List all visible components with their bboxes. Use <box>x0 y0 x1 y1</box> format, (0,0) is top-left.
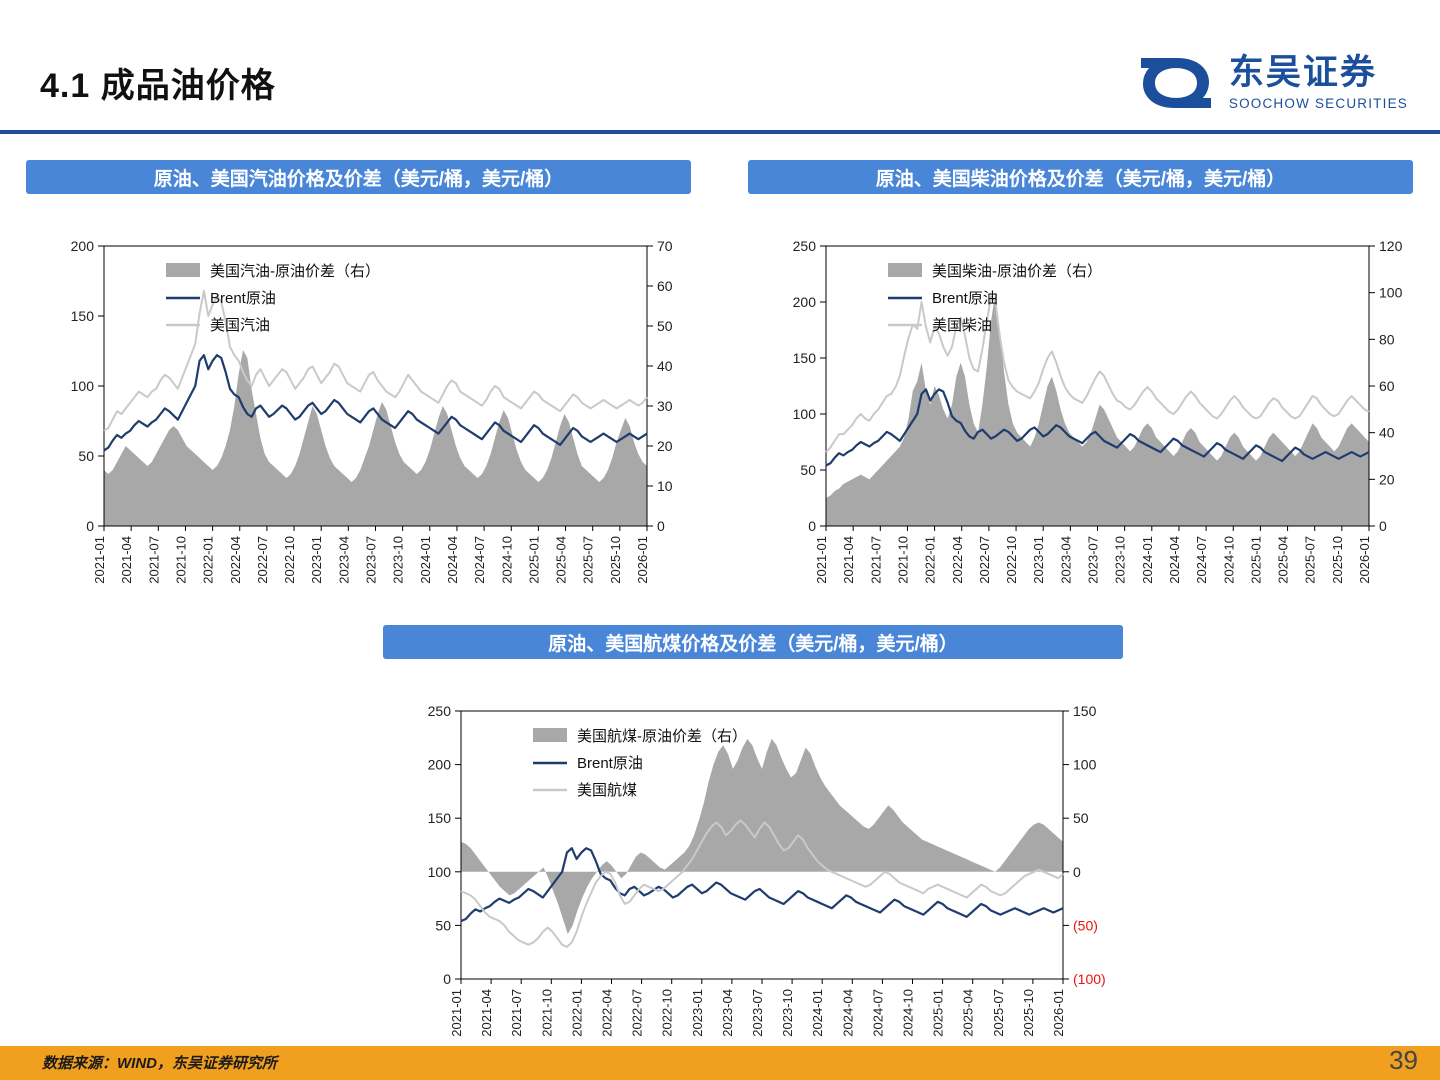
x-tick-label: 2023-10 <box>1113 536 1128 584</box>
x-tick-label: 2022-10 <box>1004 536 1019 584</box>
y-tick-label: 100 <box>793 406 817 422</box>
x-tick-label: 2026-01 <box>1357 536 1372 584</box>
x-tick-label: 2023-07 <box>1086 536 1101 584</box>
y-tick-label: 150 <box>71 308 95 324</box>
chart-title-jetfuel: 原油、美国航煤价格及价差（美元/桶，美元/桶） <box>383 625 1123 659</box>
y-tick-label: 200 <box>71 238 95 254</box>
legend-swatch-spread <box>888 263 922 277</box>
x-tick-label: 2023-04 <box>336 536 351 584</box>
chart-card-gasoline: 原油、美国汽油价格及价差（美元/桶，美元/桶） 0501001502000102… <box>26 160 691 594</box>
y-tick-label: 0 <box>443 971 451 987</box>
y-tick-label: 100 <box>428 864 452 880</box>
y-tick-label: 50 <box>435 917 451 933</box>
x-tick-label: 2024-04 <box>445 536 460 584</box>
y-tick-label: 50 <box>800 462 816 478</box>
y-tick-label: 250 <box>428 703 452 719</box>
x-tick-label: 2021-04 <box>841 536 856 584</box>
y2-tick-label: (50) <box>1073 917 1098 933</box>
x-tick-label: 2024-07 <box>472 536 487 584</box>
x-tick-label: 2021-10 <box>539 989 554 1037</box>
x-tick-label: 2023-01 <box>309 536 324 584</box>
x-tick-label: 2022-10 <box>660 989 675 1037</box>
x-tick-label: 2021-07 <box>868 536 883 584</box>
y-tick-label: 150 <box>793 350 817 366</box>
y2-tick-label: 0 <box>657 518 665 534</box>
x-tick-label: 2022-01 <box>569 989 584 1037</box>
page-number: 39 <box>1389 1045 1418 1076</box>
x-tick-label: 2025-07 <box>1303 536 1318 584</box>
y-tick-label: 100 <box>71 378 95 394</box>
legend-swatch-spread <box>533 728 567 742</box>
y2-tick-label: 40 <box>1379 425 1395 441</box>
y-tick-label: 50 <box>78 448 94 464</box>
x-tick-label: 2022-07 <box>630 989 645 1037</box>
legend-label-line-0: Brent原油 <box>577 755 643 772</box>
x-tick-label: 2024-01 <box>810 989 825 1037</box>
x-tick-label: 2024-01 <box>418 536 433 584</box>
chart-plot-gasoline: 0501001502000102030405060702021-012021-0… <box>26 194 691 594</box>
legend-label-line-0: Brent原油 <box>932 290 998 307</box>
chart-plot-diesel: 0501001502002500204060801001202021-01202… <box>748 194 1413 594</box>
logo-text-en: SOOCHOW SECURITIES <box>1229 96 1408 111</box>
y-tick-label: 200 <box>428 757 452 773</box>
x-tick-label: 2024-10 <box>499 536 514 584</box>
legend-label-spread: 美国航煤-原油价差（右） <box>577 728 747 745</box>
page-title: 4.1 成品油价格 <box>40 58 276 107</box>
y2-tick-label: 0 <box>1073 864 1081 880</box>
x-tick-label: 2023-10 <box>780 989 795 1037</box>
y-tick-label: 250 <box>793 238 817 254</box>
y2-tick-label: 0 <box>1379 518 1387 534</box>
x-tick-label: 2025-10 <box>1021 989 1036 1037</box>
chart-card-jetfuel: 原油、美国航煤价格及价差（美元/桶，美元/桶） 050100150200250(… <box>383 625 1123 1059</box>
x-tick-label: 2022-04 <box>600 989 615 1037</box>
chart-plot-jetfuel: 050100150200250(100)(50)0501001502021-01… <box>383 659 1123 1059</box>
y2-tick-label: 20 <box>1379 471 1395 487</box>
x-tick-label: 2022-07 <box>977 536 992 584</box>
company-logo: 东吴证券 SOOCHOW SECURITIES <box>1137 52 1408 114</box>
chart-title-gasoline: 原油、美国汽油价格及价差（美元/桶，美元/桶） <box>26 160 691 194</box>
x-tick-label: 2021-07 <box>509 989 524 1037</box>
x-tick-label: 2022-04 <box>950 536 965 584</box>
x-tick-label: 2021-10 <box>895 536 910 584</box>
x-tick-label: 2022-01 <box>923 536 938 584</box>
x-tick-label: 2024-04 <box>840 989 855 1037</box>
x-tick-label: 2022-10 <box>282 536 297 584</box>
x-tick-label: 2023-04 <box>1058 536 1073 584</box>
legend-label-line-1: 美国柴油 <box>932 317 992 334</box>
legend-label-line-1: 美国航煤 <box>577 782 637 799</box>
x-tick-label: 2023-07 <box>750 989 765 1037</box>
x-tick-label: 2021-01 <box>449 989 464 1037</box>
x-tick-label: 2021-04 <box>119 536 134 584</box>
x-tick-label: 2025-04 <box>961 989 976 1037</box>
y2-tick-label: 120 <box>1379 238 1403 254</box>
y-tick-label: 150 <box>428 810 452 826</box>
y2-tick-label: (100) <box>1073 971 1106 987</box>
x-tick-label: 2021-07 <box>146 536 161 584</box>
y2-tick-label: 70 <box>657 238 673 254</box>
footer-source: 数据来源：WIND，东吴证券研究所 <box>42 1052 277 1073</box>
x-tick-label: 2025-04 <box>554 536 569 584</box>
legend-label-spread: 美国柴油-原油价差（右） <box>932 263 1102 280</box>
x-tick-label: 2025-04 <box>1276 536 1291 584</box>
x-tick-label: 2021-01 <box>92 536 107 584</box>
x-tick-label: 2025-10 <box>608 536 623 584</box>
x-tick-label: 2026-01 <box>1051 989 1066 1037</box>
x-tick-label: 2022-01 <box>201 536 216 584</box>
x-tick-label: 2021-01 <box>814 536 829 584</box>
y2-tick-label: 100 <box>1379 285 1403 301</box>
x-tick-label: 2025-10 <box>1330 536 1345 584</box>
y2-tick-label: 50 <box>657 318 673 334</box>
x-tick-label: 2021-10 <box>173 536 188 584</box>
header-divider <box>0 130 1440 134</box>
x-tick-label: 2025-07 <box>991 989 1006 1037</box>
x-tick-label: 2024-07 <box>1194 536 1209 584</box>
x-tick-label: 2024-04 <box>1167 536 1182 584</box>
x-tick-label: 2023-01 <box>1031 536 1046 584</box>
x-tick-label: 2025-01 <box>1248 536 1263 584</box>
series-area-spread <box>461 739 1063 934</box>
logo-text-cn: 东吴证券 <box>1229 55 1377 90</box>
series-area-spread <box>826 293 1369 526</box>
x-tick-label: 2024-10 <box>1221 536 1236 584</box>
y2-tick-label: 150 <box>1073 703 1097 719</box>
x-tick-label: 2022-04 <box>228 536 243 584</box>
x-tick-label: 2024-10 <box>901 989 916 1037</box>
legend-label-spread: 美国汽油-原油价差（右） <box>210 263 380 280</box>
x-tick-label: 2023-10 <box>391 536 406 584</box>
x-tick-label: 2024-07 <box>870 989 885 1037</box>
legend-label-line-1: 美国汽油 <box>210 317 270 334</box>
x-tick-label: 2025-07 <box>581 536 596 584</box>
x-tick-label: 2024-01 <box>1140 536 1155 584</box>
x-tick-label: 2021-04 <box>479 989 494 1037</box>
x-tick-label: 2023-07 <box>364 536 379 584</box>
soochow-logo-icon <box>1137 52 1215 114</box>
y2-tick-label: 80 <box>1379 331 1395 347</box>
legend-label-line-0: Brent原油 <box>210 290 276 307</box>
chart-title-diesel: 原油、美国柴油价格及价差（美元/桶，美元/桶） <box>748 160 1413 194</box>
x-tick-label: 2022-07 <box>255 536 270 584</box>
x-tick-label: 2026-01 <box>635 536 650 584</box>
x-tick-label: 2023-01 <box>690 989 705 1037</box>
y2-tick-label: 10 <box>657 478 673 494</box>
y-tick-label: 0 <box>86 518 94 534</box>
chart-card-diesel: 原油、美国柴油价格及价差（美元/桶，美元/桶） 0501001502002500… <box>748 160 1413 594</box>
y2-tick-label: 100 <box>1073 757 1097 773</box>
x-tick-label: 2023-04 <box>720 989 735 1037</box>
y2-tick-label: 40 <box>657 358 673 374</box>
x-tick-label: 2025-01 <box>931 989 946 1037</box>
legend-swatch-spread <box>166 263 200 277</box>
x-tick-label: 2025-01 <box>526 536 541 584</box>
y-tick-label: 200 <box>793 294 817 310</box>
y2-tick-label: 60 <box>657 278 673 294</box>
y2-tick-label: 50 <box>1073 810 1089 826</box>
y2-tick-label: 20 <box>657 438 673 454</box>
y2-tick-label: 30 <box>657 398 673 414</box>
y2-tick-label: 60 <box>1379 378 1395 394</box>
y-tick-label: 0 <box>808 518 816 534</box>
